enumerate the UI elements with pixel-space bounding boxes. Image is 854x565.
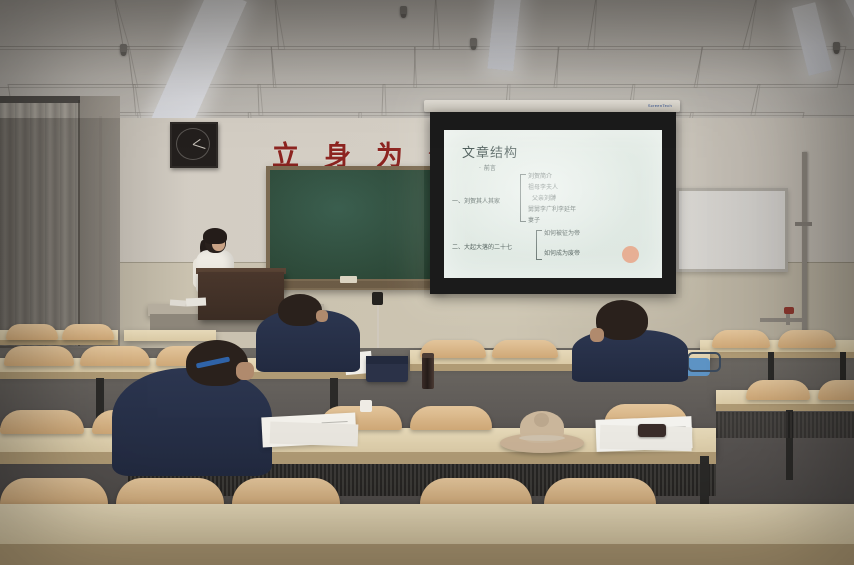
attendee-1-nape [236, 362, 254, 380]
slide: 文章结构 前言 一、刘贺其人其家 刘贺简介 祖母李夫人 父亲刘髆 舅舅李广利李延… [444, 130, 662, 278]
chair [492, 340, 558, 358]
chair [62, 324, 114, 340]
chair [410, 406, 492, 430]
desk-edge [700, 352, 854, 358]
cup [360, 400, 372, 412]
fedora-hat [500, 411, 584, 453]
chair [80, 346, 150, 366]
lectern-paper-2 [170, 299, 186, 306]
screen-brand-label: ScreenTech [648, 103, 672, 108]
projection-screen: 文章结构 前言 一、刘贺其人其家 刘贺简介 祖母李夫人 父亲刘髆 舅舅李广利李延… [430, 112, 676, 294]
desk-edge [0, 544, 854, 565]
desk-leg [700, 456, 709, 506]
thermos-flask [422, 355, 434, 389]
hat-band [519, 435, 565, 441]
chair [818, 380, 854, 400]
desk-edge [0, 452, 716, 464]
attendee-1-body [112, 368, 272, 476]
chair [0, 410, 84, 434]
wall-device-icon [372, 292, 383, 305]
presenter-hair-top [203, 228, 227, 244]
chair [712, 330, 770, 348]
classroom-photo: 立 身 为 公 ScreenTech 文章结构 前言 一、刘贺其人其家 刘贺简介 [0, 0, 854, 565]
wall-shading [0, 118, 854, 352]
lectern [198, 272, 284, 320]
lectern-paper [186, 297, 206, 306]
device-pole [377, 300, 379, 348]
bag-flap [366, 356, 408, 364]
chair [6, 324, 58, 340]
desk-row-front [0, 504, 854, 548]
smartphone [638, 424, 666, 437]
chair [778, 330, 836, 348]
desk-grille [716, 412, 854, 438]
document-second-sheet [270, 421, 359, 446]
desk-row-far [124, 330, 216, 341]
curtain-rail [0, 96, 80, 103]
desk-edge [716, 404, 854, 411]
attendee-2-head [278, 294, 322, 326]
attendee-3-nape [590, 328, 604, 342]
chair [746, 380, 810, 400]
desk-edge [0, 340, 118, 345]
hat-crease [534, 413, 549, 427]
screen-housing: ScreenTech [424, 100, 680, 112]
attendee-2-nape [316, 310, 328, 322]
thermos-cap [422, 353, 434, 358]
chair [4, 346, 74, 366]
projector-glow [444, 130, 662, 278]
blue-bag-handle [687, 352, 721, 372]
